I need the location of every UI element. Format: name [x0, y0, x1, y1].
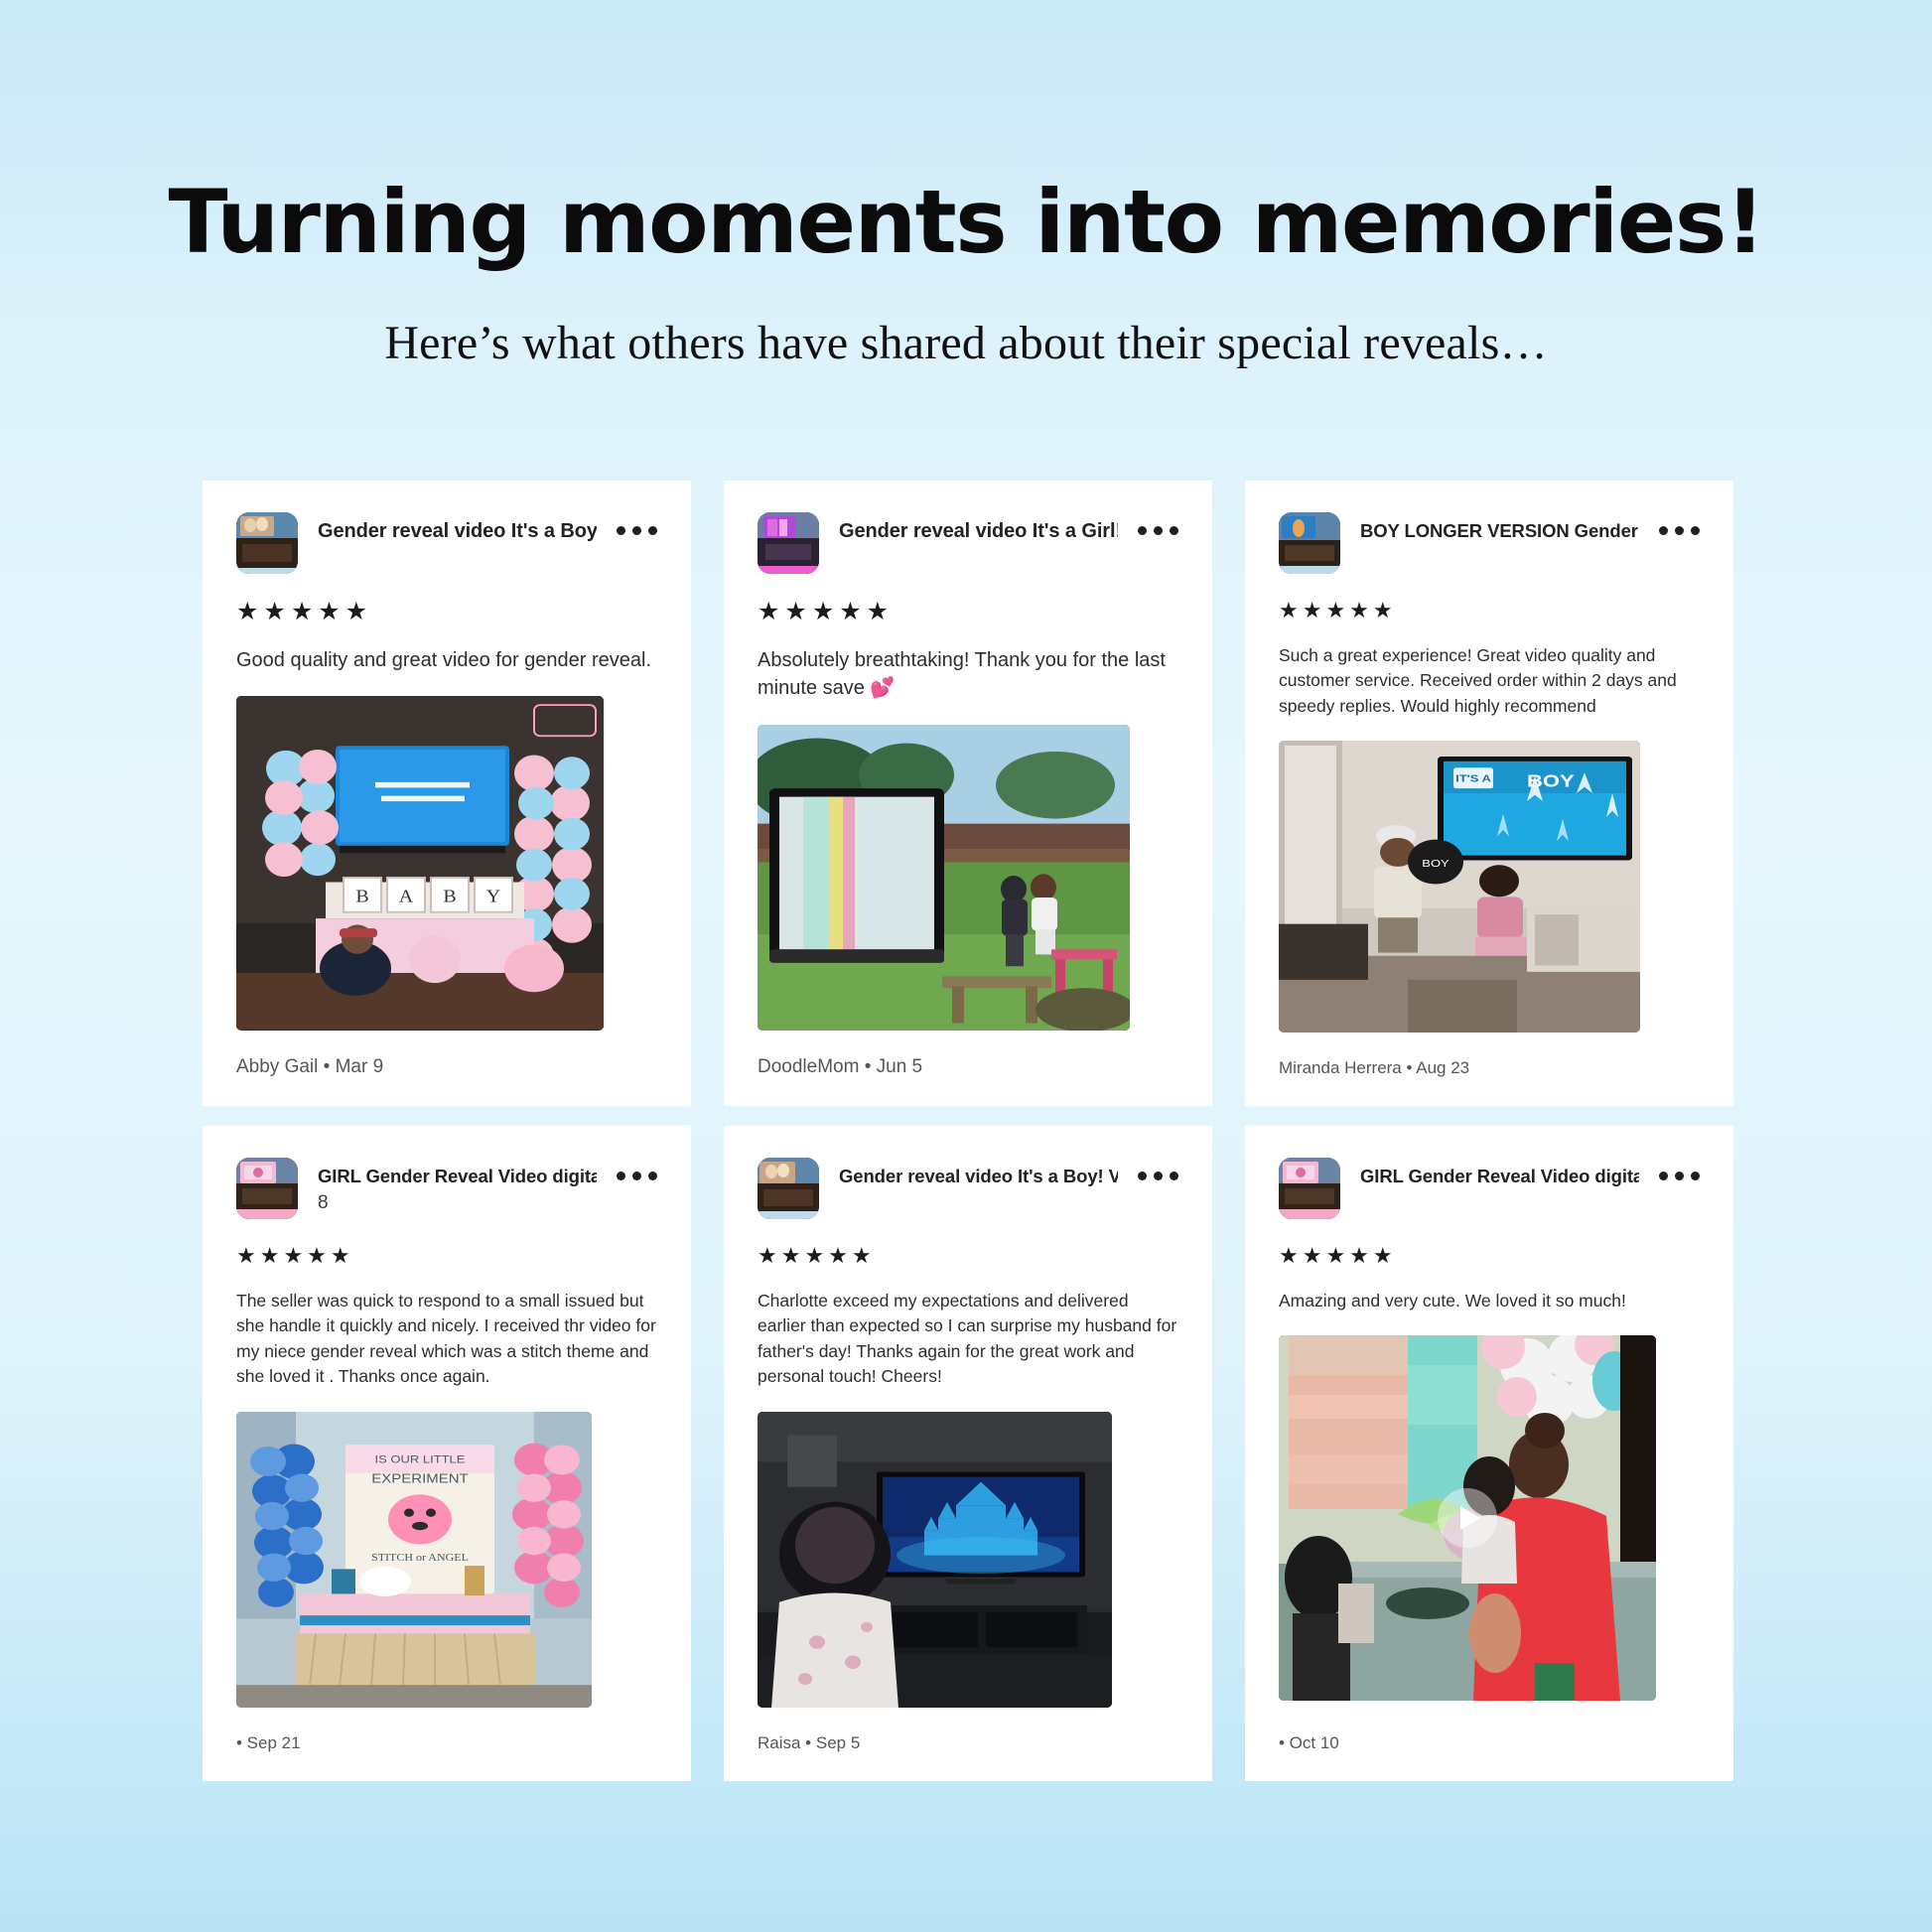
review-card[interactable]: Gender reveal video It's a Girl! Vide...…	[724, 481, 1212, 1106]
review-card[interactable]: BOY LONGER VERSION Gender ... ★★★★★ Such…	[1245, 481, 1733, 1106]
review-card[interactable]: Gender reveal video It's a Boy! Vide... …	[203, 481, 691, 1106]
overflow-menu-icon[interactable]	[1659, 1158, 1700, 1180]
review-text: Charlotte exceed my expectations and del…	[758, 1289, 1178, 1390]
review-card[interactable]: Gender reveal video It's a Boy! Vide... …	[724, 1126, 1212, 1781]
review-text: Absolutely breathtaking! Thank you for t…	[758, 646, 1178, 703]
listing-title[interactable]: GIRL Gender Reveal Video digital ...	[1360, 1165, 1639, 1187]
rating-stars: ★★★★★	[236, 600, 657, 624]
listing-info: BOY LONGER VERSION Gender ...	[1360, 512, 1639, 542]
listing-thumbnail[interactable]	[1279, 512, 1340, 574]
svg-text:IT'S A: IT'S A	[1455, 773, 1491, 785]
review-card-header: Gender reveal video It's a Boy! Vide...	[236, 512, 657, 574]
review-meta: Abby Gail • Mar 9	[236, 1031, 657, 1078]
listing-subtitle: 8	[318, 1192, 597, 1214]
svg-text:EXPERIMENT: EXPERIMENT	[371, 1471, 469, 1485]
review-photo[interactable]	[758, 1412, 1112, 1709]
review-meta: • Oct 10	[1279, 1708, 1700, 1753]
rating-stars: ★★★★★	[236, 1245, 657, 1267]
svg-text:A: A	[399, 888, 414, 907]
review-photo[interactable]	[758, 725, 1130, 1031]
listing-thumbnail[interactable]	[236, 1158, 298, 1219]
review-photo[interactable]: IS OUR LITTLE EXPERIMENT STITCH or ANGEL	[236, 1412, 592, 1709]
listing-info: Gender reveal video It's a Boy! Vide...	[839, 1158, 1118, 1187]
rating-stars: ★★★★★	[1279, 600, 1700, 621]
svg-text:BOY: BOY	[1527, 772, 1575, 791]
review-card[interactable]: GIRL Gender Reveal Video digital ... ★★★…	[1245, 1126, 1733, 1781]
listing-title[interactable]: Gender reveal video It's a Boy! Vide...	[839, 1165, 1118, 1187]
listing-thumbnail[interactable]	[758, 1158, 819, 1219]
review-video[interactable]	[1279, 1335, 1656, 1701]
page-title: Turning moments into memories!	[0, 177, 1932, 268]
review-text: Such a great experience! Great video qua…	[1279, 643, 1700, 719]
review-card-header: BOY LONGER VERSION Gender ...	[1279, 512, 1700, 574]
poster-page: Turning moments into memories! Here’s wh…	[0, 0, 1932, 1932]
svg-text:BOY: BOY	[1422, 858, 1449, 870]
review-card-header: Gender reveal video It's a Girl! Vide...	[758, 512, 1178, 574]
review-photo[interactable]: BA BY	[236, 696, 604, 1031]
svg-text:IS OUR LITTLE: IS OUR LITTLE	[375, 1452, 466, 1465]
listing-thumbnail[interactable]	[1279, 1158, 1340, 1219]
overflow-menu-icon[interactable]	[1138, 1158, 1178, 1180]
rating-stars: ★★★★★	[758, 1245, 1178, 1267]
listing-info: GIRL Gender Reveal Video digital ...	[1360, 1158, 1639, 1187]
reviews-grid: Gender reveal video It's a Boy! Vide... …	[203, 481, 1736, 1781]
overflow-menu-icon[interactable]	[617, 512, 657, 535]
svg-text:STITCH or ANGEL: STITCH or ANGEL	[371, 1552, 469, 1563]
review-card[interactable]: GIRL Gender Reveal Video digital ... 8 ★…	[203, 1126, 691, 1781]
svg-text:B: B	[355, 888, 368, 907]
overflow-menu-icon[interactable]	[1138, 512, 1178, 535]
review-photo[interactable]: IT'S A BOY BOY	[1279, 741, 1640, 1033]
page-subtitle: Here’s what others have shared about the…	[0, 316, 1932, 370]
overflow-menu-icon[interactable]	[617, 1158, 657, 1180]
overflow-menu-icon[interactable]	[1659, 512, 1700, 535]
listing-info: Gender reveal video It's a Girl! Vide...	[839, 512, 1118, 544]
listing-title[interactable]: GIRL Gender Reveal Video digital ...	[318, 1165, 597, 1187]
review-text: Good quality and great video for gender …	[236, 646, 657, 674]
review-meta: DoodleMom • Jun 5	[758, 1031, 1178, 1078]
review-card-header: GIRL Gender Reveal Video digital ...	[1279, 1158, 1700, 1219]
svg-text:Y: Y	[486, 888, 501, 907]
review-text: Amazing and very cute. We loved it so mu…	[1279, 1289, 1700, 1313]
listing-info: GIRL Gender Reveal Video digital ... 8	[318, 1158, 597, 1214]
listing-title[interactable]: Gender reveal video It's a Girl! Vide...	[839, 519, 1118, 544]
listing-info: Gender reveal video It's a Boy! Vide...	[318, 512, 597, 544]
page-header: Turning moments into memories! Here’s wh…	[0, 0, 1932, 370]
listing-thumbnail[interactable]	[236, 512, 298, 574]
play-button-icon[interactable]	[1438, 1488, 1497, 1548]
review-meta: Miranda Herrera • Aug 23	[1279, 1033, 1700, 1078]
review-card-header: Gender reveal video It's a Boy! Vide...	[758, 1158, 1178, 1219]
rating-stars: ★★★★★	[1279, 1245, 1700, 1267]
listing-thumbnail[interactable]	[758, 512, 819, 574]
svg-text:B: B	[443, 888, 456, 907]
review-meta: • Sep 21	[236, 1708, 657, 1753]
review-text: The seller was quick to respond to a sma…	[236, 1289, 657, 1390]
review-meta: Raisa • Sep 5	[758, 1708, 1178, 1753]
review-card-header: GIRL Gender Reveal Video digital ... 8	[236, 1158, 657, 1219]
listing-title[interactable]: Gender reveal video It's a Boy! Vide...	[318, 519, 597, 544]
rating-stars: ★★★★★	[758, 600, 1178, 624]
listing-title[interactable]: BOY LONGER VERSION Gender ...	[1360, 519, 1639, 542]
